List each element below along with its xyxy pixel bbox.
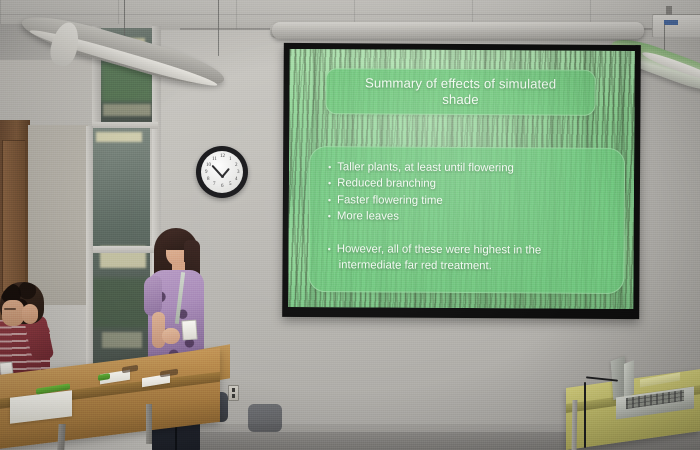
projection-screen-roller-housing xyxy=(272,22,644,39)
hvac-badge xyxy=(664,20,678,25)
door-panel xyxy=(2,140,26,292)
clock-face: 12 1 2 3 4 5 6 7 8 9 10 11 xyxy=(201,151,243,193)
classroom-photo-scene: Summary of effects of simulated shade • … xyxy=(0,0,700,450)
wall-clock: 12 1 2 3 4 5 6 7 8 9 10 11 xyxy=(196,146,248,198)
list-item: • Taller plants, at least until flowerin… xyxy=(328,159,614,177)
ceiling-hvac-unit xyxy=(652,14,700,38)
slide-title: Summary of effects of simulated shade xyxy=(355,75,566,109)
clock-numeral: 7 xyxy=(213,182,216,187)
slide-body-box: • Taller plants, at least until flowerin… xyxy=(308,146,625,294)
bullet-icon: • xyxy=(328,208,331,224)
bullet-text: Faster flowering time xyxy=(337,192,614,210)
clock-numeral: 3 xyxy=(237,170,240,175)
bullet-text: Reduced branching xyxy=(337,176,614,194)
pendant-rod-left-2 xyxy=(218,0,219,56)
table-leg-2 xyxy=(146,404,152,444)
clock-numeral: 8 xyxy=(207,177,210,182)
clock-numeral: 9 xyxy=(205,170,208,175)
table-leg xyxy=(57,424,65,450)
bullet-text-closing: However, all of these were highest in th… xyxy=(337,241,614,276)
presenter-sleeve xyxy=(144,276,162,316)
slide-title-line-1: Summary of effects of simulated xyxy=(365,75,556,91)
bullet-icon: • xyxy=(328,176,331,192)
closing-line-1: However, all of these were highest in th… xyxy=(337,243,542,256)
ceiling-mount xyxy=(666,6,672,15)
student-face xyxy=(2,300,24,326)
clock-numeral: 4 xyxy=(235,177,238,182)
presenter-name-badge xyxy=(181,320,197,341)
laptop-screen xyxy=(624,360,634,398)
bullet-icon: • xyxy=(328,159,331,175)
presenter-hands xyxy=(162,328,180,344)
projection-screen-surface: Summary of effects of simulated shade • … xyxy=(288,49,635,309)
bullet-text: Taller plants, at least until flowering xyxy=(337,159,614,177)
outlet-socket-top xyxy=(232,388,235,392)
window-ceiling-light xyxy=(96,132,142,142)
slide-title-box: Summary of effects of simulated shade xyxy=(325,68,595,116)
list-item-closing: • However, all of these were highest in … xyxy=(327,241,613,276)
laptop-desk-leg xyxy=(572,400,578,450)
wall-outlet xyxy=(228,385,239,401)
clock-numeral: 12 xyxy=(220,154,225,159)
wall-panel xyxy=(28,125,88,305)
list-item: • Reduced branching xyxy=(328,176,614,194)
bullet-text: More leaves xyxy=(337,208,614,226)
clock-center-pin xyxy=(221,175,224,178)
clock-numeral: 2 xyxy=(235,163,238,168)
clock-numeral: 10 xyxy=(206,163,211,168)
bullet-icon: • xyxy=(328,192,331,208)
bullet-icon: • xyxy=(328,241,331,257)
list-item: • Faster flowering time xyxy=(328,192,614,210)
window-light-reflection-2 xyxy=(103,104,151,116)
list-item: • More leaves xyxy=(328,208,614,226)
student-brow xyxy=(4,308,16,310)
chair-back-2 xyxy=(248,404,282,432)
clock-numeral: 5 xyxy=(229,182,232,187)
closing-line-2: intermediate far red treatment. xyxy=(337,257,614,275)
clock-numeral: 1 xyxy=(229,157,232,162)
slide-title-line-2: shade xyxy=(442,92,479,107)
power-cable xyxy=(584,382,586,448)
clock-numeral: 6 xyxy=(221,184,224,189)
slide-bullet-list: • Taller plants, at least until flowerin… xyxy=(327,159,614,275)
projection-screen: Summary of effects of simulated shade • … xyxy=(282,43,641,319)
student-hand-on-head xyxy=(22,304,38,324)
clock-numeral: 11 xyxy=(212,157,217,162)
outlet-socket-bottom xyxy=(232,394,235,398)
pendant-rod-left xyxy=(124,0,125,40)
